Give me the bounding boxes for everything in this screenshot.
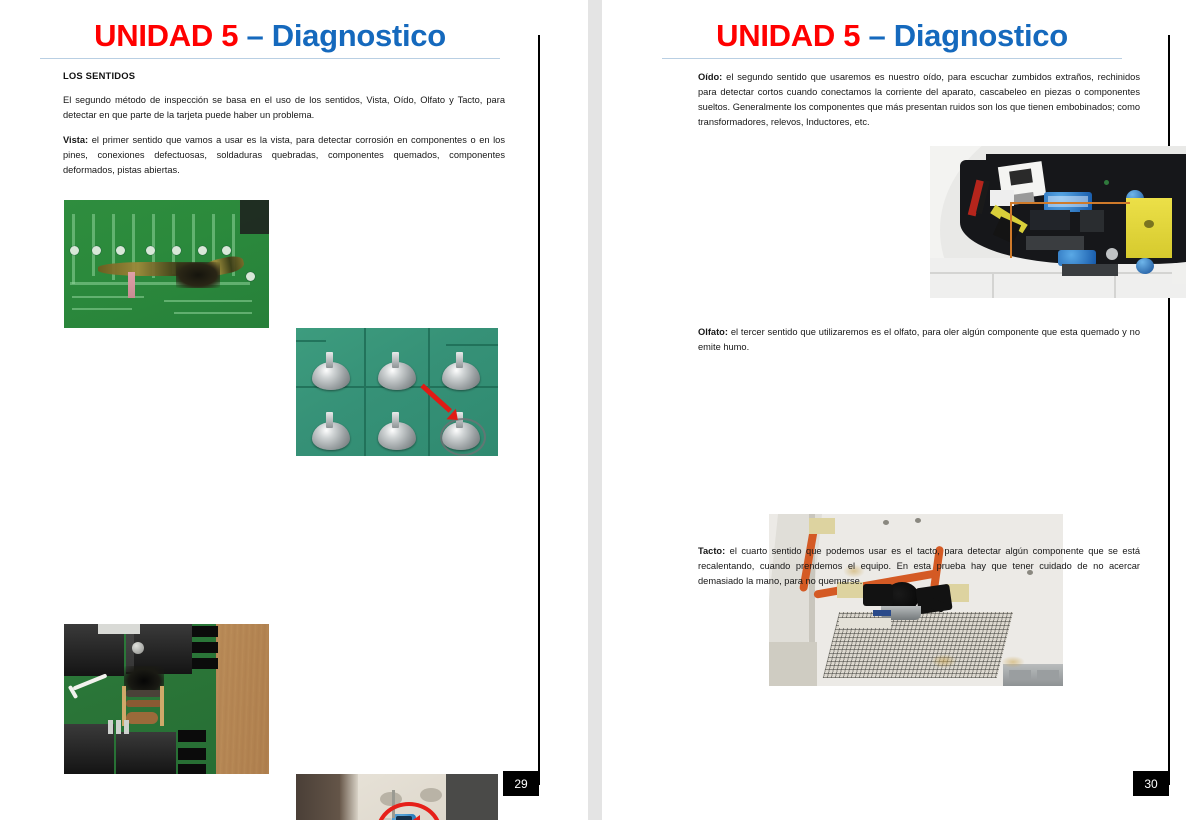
paragraph-oido: Oído: el segundo sentido que usaremos es…: [698, 70, 1140, 130]
section-heading-los-sentidos: LOS SENTIDOS: [63, 70, 505, 81]
yellow-transformer: [1126, 198, 1172, 258]
paragraph-tacto: Tacto: el cuarto sentido que podemos usa…: [698, 544, 1140, 589]
page-number-right-value: 30: [1144, 777, 1157, 791]
paragraph-olfato-lead: Olfato:: [698, 327, 728, 337]
page-right: UNIDAD 5 – Diagnostico Oído: el segundo …: [602, 0, 1186, 820]
red-arrow-icon: [420, 384, 452, 413]
figure-pcb-solder-joints-arrow: [296, 328, 498, 456]
paragraph-oido-text: el segundo sentido que usaremos es nuest…: [698, 72, 1140, 127]
figure-burnt-component-chassis: [769, 514, 1063, 686]
paragraph-vista-lead: Vista:: [63, 135, 88, 145]
paragraph-vista: Vista: el primer sentido que vamos a usa…: [63, 133, 505, 178]
page-number-right: 30: [1133, 771, 1169, 796]
paragraph-metodo: El segundo método de inspección se basa …: [63, 93, 505, 123]
figure-pcb-green-corroded-traces: [64, 200, 269, 328]
page-number-left-value: 29: [514, 777, 527, 791]
paragraph-oido-lead: Oído:: [698, 72, 722, 82]
page-title-right: UNIDAD 5 – Diagnostico: [662, 18, 1122, 54]
paragraph-tacto-text: el cuarto sentido que podemos usar es el…: [698, 546, 1140, 586]
page-left-edge-rule: [538, 35, 540, 785]
page-gutter: [588, 0, 602, 820]
paragraph-tacto-lead: Tacto:: [698, 546, 725, 556]
figure-appliance-round-pcb: [930, 146, 1186, 298]
figure-pcb-heatsinks-burnt: [64, 624, 269, 774]
document-spread: UNIDAD 5 – Diagnostico LOS SENTIDOS El s…: [0, 0, 1186, 820]
paragraph-olfato-text: el tercer sentido que utilizaremos es el…: [698, 327, 1140, 352]
title-blue-left: – Diagnostico: [246, 18, 445, 53]
paragraph-vista-text: el primer sentido que vamos a usar es la…: [63, 135, 505, 175]
page-number-left: 29: [503, 771, 539, 796]
page-left: UNIDAD 5 – Diagnostico LOS SENTIDOS El s…: [0, 0, 588, 820]
title-rule-left: [40, 58, 500, 59]
paragraph-metodo-text: El segundo método de inspección se basa …: [63, 95, 505, 120]
title-red-right: UNIDAD 5: [716, 18, 868, 53]
figure-pcb-trimpot-circled: [296, 774, 498, 820]
title-blue-right: – Diagnostico: [868, 18, 1067, 53]
paragraph-olfato: Olfato: el tercer sentido que utilizarem…: [698, 325, 1140, 355]
title-rule-right: [662, 58, 1122, 59]
page-title-left: UNIDAD 5 – Diagnostico: [40, 18, 500, 54]
title-red-left: UNIDAD 5: [94, 18, 246, 53]
